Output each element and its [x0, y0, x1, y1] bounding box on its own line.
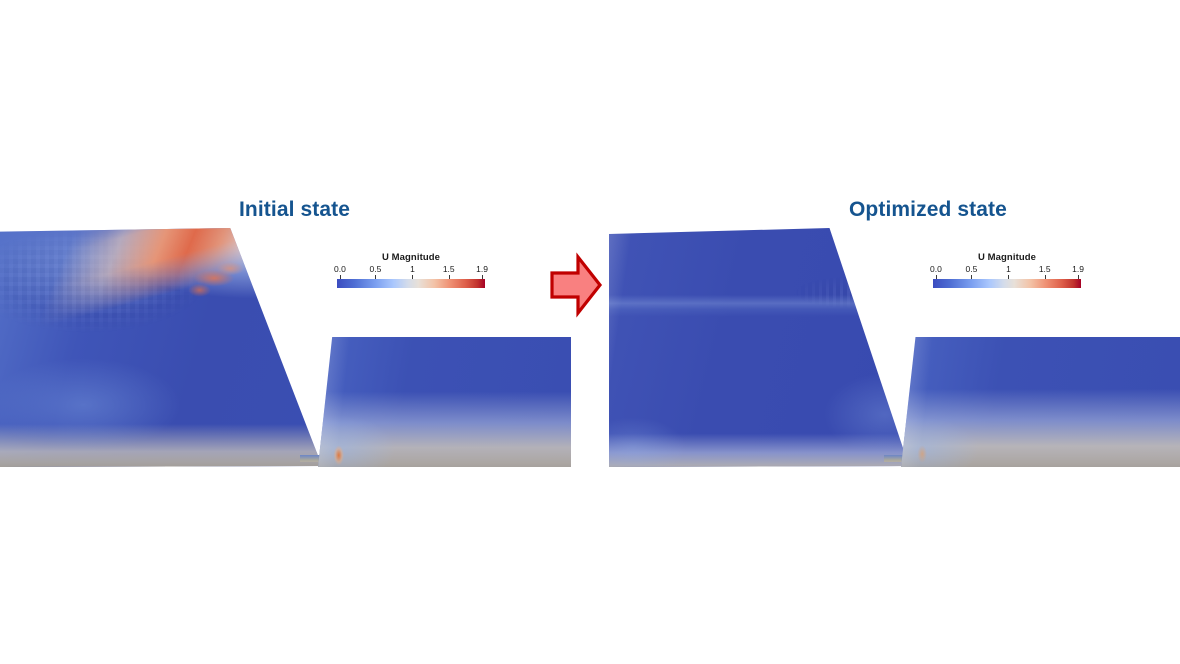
panel-title-optimized: Optimized state — [849, 198, 1007, 222]
field-corner-hotspot — [901, 337, 1180, 467]
colorbar-tick-label-3: 1.5 — [1039, 264, 1051, 274]
figure-canvas: Initial state U Magnitude 0.0 0.5 1 1.5 … — [0, 0, 1180, 664]
colorbar-tick-mark-2 — [1008, 275, 1009, 279]
field-corner-hotspot — [318, 337, 571, 467]
colorbar-gradient-bar — [337, 279, 485, 288]
colorbar-tick-mark-3 — [1045, 275, 1046, 279]
panel-title-initial: Initial state — [239, 198, 350, 222]
colorbar-tick-label-1: 0.5 — [370, 264, 382, 274]
right-arrow-icon — [548, 252, 604, 318]
colorbar-tick-mark-4 — [1078, 275, 1079, 279]
colorbar-tick-marks — [337, 275, 485, 279]
colorbar-tick-label-2: 1 — [1006, 264, 1011, 274]
colorbar-tick-mark-0 — [936, 275, 937, 279]
colorbar-tick-label-2: 1 — [410, 264, 415, 274]
velocity-field-initial-block-b — [318, 337, 571, 467]
colorbar-tick-marks — [933, 275, 1081, 279]
field-hot-speckles — [0, 228, 322, 467]
colorbar-optimized: U Magnitude 0.0 0.5 1 1.5 1.9 — [933, 252, 1081, 288]
colorbar-tick-mark-2 — [412, 275, 413, 279]
colorbar-tick-label-3: 1.5 — [443, 264, 455, 274]
colorbar-tick-labels: 0.0 0.5 1 1.5 1.9 — [933, 264, 1081, 275]
colorbar-tick-label-1: 0.5 — [966, 264, 978, 274]
colorbar-tick-label-4: 1.9 — [476, 264, 488, 274]
colorbar-tick-mark-0 — [340, 275, 341, 279]
velocity-field-optimized-block-a — [609, 228, 909, 467]
colorbar-tick-label-0: 0.0 — [334, 264, 346, 274]
colorbar-tick-mark-4 — [482, 275, 483, 279]
colorbar-tick-label-0: 0.0 — [930, 264, 942, 274]
colorbar-gradient-bar — [933, 279, 1081, 288]
colorbar-title: U Magnitude — [933, 252, 1081, 263]
transition-arrow — [548, 252, 604, 318]
velocity-field-optimized-block-b — [901, 337, 1180, 467]
colorbar-tick-mark-1 — [375, 275, 376, 279]
field-edge-glow — [609, 228, 909, 467]
colorbar-tick-label-4: 1.9 — [1072, 264, 1084, 274]
colorbar-title: U Magnitude — [337, 252, 485, 263]
colorbar-tick-mark-1 — [971, 275, 972, 279]
colorbar-tick-mark-3 — [449, 275, 450, 279]
colorbar-tick-labels: 0.0 0.5 1 1.5 1.9 — [337, 264, 485, 275]
colorbar-initial: U Magnitude 0.0 0.5 1 1.5 1.9 — [337, 252, 485, 288]
velocity-field-initial-block-a — [0, 228, 322, 467]
